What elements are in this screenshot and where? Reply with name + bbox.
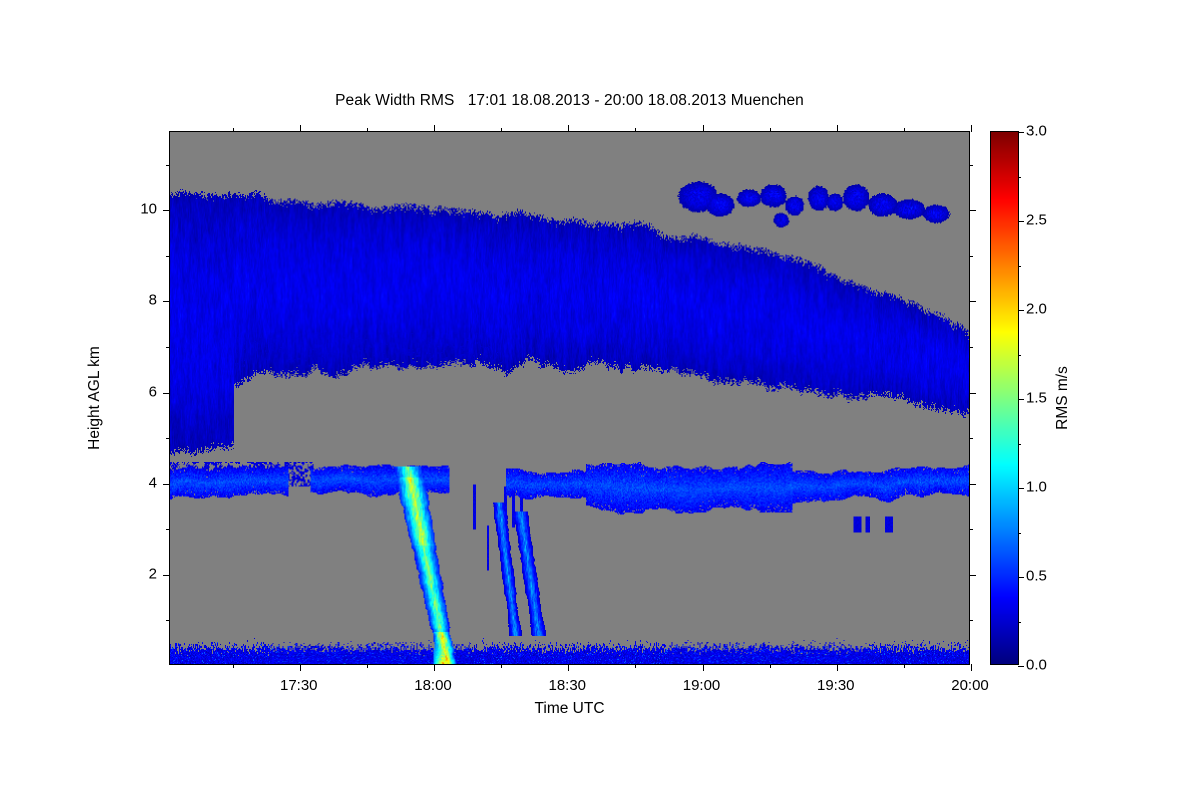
axis-tick bbox=[163, 393, 170, 394]
axis-tick bbox=[635, 664, 636, 668]
y-tick-label: 8 bbox=[0, 292, 157, 309]
x-tick-label: 18:00 bbox=[414, 677, 452, 694]
axis-tick bbox=[166, 347, 170, 348]
axis-tick bbox=[300, 125, 301, 132]
plot-axes-area bbox=[169, 131, 970, 665]
axis-tick bbox=[969, 256, 973, 257]
y-tick-label: 10 bbox=[0, 201, 157, 218]
axis-tick bbox=[434, 125, 435, 132]
axis-tick bbox=[367, 664, 368, 668]
y-tick-label: 2 bbox=[0, 565, 157, 582]
x-tick-label: 19:00 bbox=[683, 677, 721, 694]
x-tick-label: 17:30 bbox=[280, 677, 318, 694]
axis-tick bbox=[434, 664, 435, 671]
colorbar-minor-tick bbox=[1018, 177, 1021, 178]
axis-tick bbox=[166, 529, 170, 530]
axis-tick bbox=[568, 125, 569, 132]
x-tick-label: 19:30 bbox=[817, 677, 855, 694]
y-axis-title: Height AGL km bbox=[86, 346, 104, 450]
colorbar-minor-tick bbox=[1018, 266, 1021, 267]
axis-tick bbox=[969, 210, 976, 211]
colorbar-minor-tick bbox=[1018, 355, 1021, 356]
axis-tick bbox=[300, 664, 301, 671]
colorbar-minor-tick bbox=[1018, 533, 1021, 534]
axis-tick bbox=[233, 128, 234, 132]
axis-tick bbox=[163, 210, 170, 211]
axis-tick bbox=[969, 529, 973, 530]
lidar-rms-figure: Peak Width RMS 17:01 18.08.2013 - 20:00 … bbox=[0, 0, 1200, 800]
x-axis-title: Time UTC bbox=[169, 700, 970, 718]
axis-tick bbox=[969, 484, 976, 485]
colorbar-tick bbox=[1018, 666, 1024, 667]
axis-tick bbox=[837, 125, 838, 132]
axis-tick bbox=[703, 125, 704, 132]
y-tick-label: 4 bbox=[0, 474, 157, 491]
colorbar-tick-label: 0.5 bbox=[1026, 568, 1047, 585]
axis-tick bbox=[163, 301, 170, 302]
axis-tick bbox=[166, 438, 170, 439]
colorbar-tick-label: 1.0 bbox=[1026, 479, 1047, 496]
colorbar-gradient bbox=[991, 132, 1018, 664]
axis-tick bbox=[163, 484, 170, 485]
axis-tick bbox=[969, 301, 976, 302]
axis-tick bbox=[635, 128, 636, 132]
axis-tick bbox=[163, 575, 170, 576]
axis-tick bbox=[166, 256, 170, 257]
x-tick-label: 20:00 bbox=[951, 677, 989, 694]
colorbar-tick-label: 3.0 bbox=[1026, 123, 1047, 140]
colorbar-tick-label: 1.5 bbox=[1026, 390, 1047, 407]
y-tick-label: 6 bbox=[0, 383, 157, 400]
colorbar-tick bbox=[1018, 577, 1024, 578]
axis-tick bbox=[969, 620, 973, 621]
colorbar-minor-tick bbox=[1018, 622, 1021, 623]
axis-tick bbox=[233, 664, 234, 668]
colorbar-tick bbox=[1018, 221, 1024, 222]
page-title: Peak Width RMS 17:01 18.08.2013 - 20:00 … bbox=[169, 92, 970, 110]
x-tick-label: 18:30 bbox=[548, 677, 586, 694]
colorbar-tick bbox=[1018, 132, 1024, 133]
colorbar-title: RMS m/s bbox=[1054, 366, 1072, 430]
axis-tick bbox=[969, 575, 976, 576]
axis-tick bbox=[770, 664, 771, 668]
axis-tick bbox=[837, 664, 838, 671]
axis-tick bbox=[971, 664, 972, 671]
axis-tick bbox=[501, 128, 502, 132]
axis-tick bbox=[971, 125, 972, 132]
colorbar bbox=[990, 131, 1019, 665]
axis-tick bbox=[770, 128, 771, 132]
axis-tick bbox=[568, 664, 569, 671]
colorbar-tick bbox=[1018, 488, 1024, 489]
colorbar-tick bbox=[1018, 310, 1024, 311]
colorbar-tick-label: 2.0 bbox=[1026, 301, 1047, 318]
axis-tick bbox=[703, 664, 704, 671]
axis-tick bbox=[969, 393, 976, 394]
axis-tick bbox=[166, 165, 170, 166]
axis-tick bbox=[904, 128, 905, 132]
colorbar-minor-tick bbox=[1018, 444, 1021, 445]
axis-tick bbox=[969, 438, 973, 439]
axis-tick bbox=[367, 128, 368, 132]
heatmap-canvas bbox=[170, 132, 969, 664]
axis-tick bbox=[904, 664, 905, 668]
colorbar-tick bbox=[1018, 399, 1024, 400]
axis-tick bbox=[969, 165, 973, 166]
colorbar-tick-label: 0.0 bbox=[1026, 657, 1047, 674]
axis-tick bbox=[166, 620, 170, 621]
axis-tick bbox=[501, 664, 502, 668]
axis-tick bbox=[969, 347, 973, 348]
colorbar-tick-label: 2.5 bbox=[1026, 212, 1047, 229]
